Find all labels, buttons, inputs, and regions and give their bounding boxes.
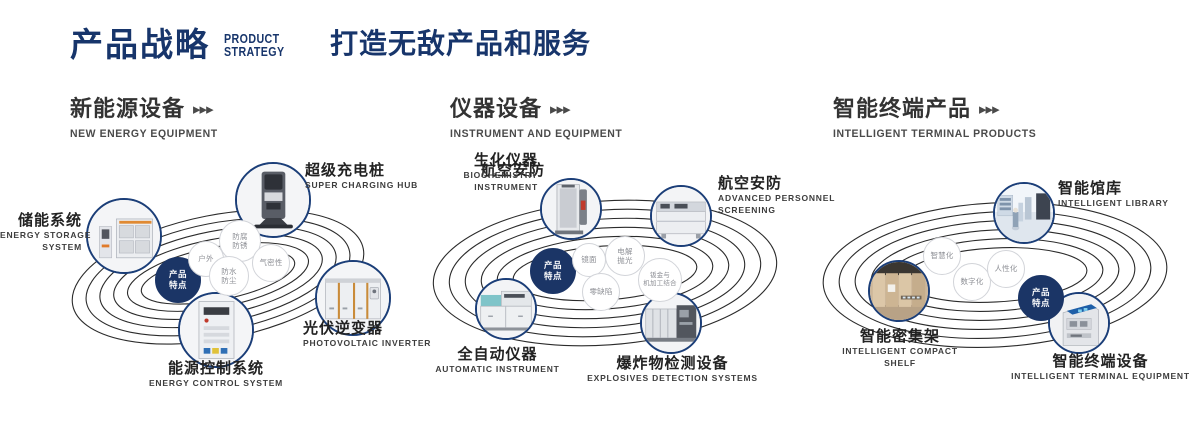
label-intelligent-library: 智能馆库 INTELLIGENT LIBRARY <box>1058 180 1169 209</box>
header-slogan: 打造无敌产品和服务 <box>330 30 591 58</box>
label-cn: 智能密集架 <box>810 328 990 345</box>
core-line-2: 特点 <box>544 271 562 282</box>
section-heading-instrument-en: INSTRUMENT AND EQUIPMENT <box>450 128 622 140</box>
label-cn: 储能系统 <box>0 212 82 229</box>
node-advanced-personnel-screening[interactable] <box>650 185 712 247</box>
label-en-1: ENERGY CONTROL SYSTEM <box>106 378 326 389</box>
energy-storage-cabinet-icon <box>88 200 160 272</box>
core-line-2: 特点 <box>1032 298 1050 309</box>
core-line-1: 产品 <box>544 260 562 271</box>
library-room-icon <box>995 184 1053 242</box>
core-line-1: 产品 <box>169 269 187 280</box>
section-heading-new-energy-cn-row: 新能源设备 ▸▸▸ <box>70 98 225 120</box>
label-cn: 能源控制系统 <box>106 360 326 377</box>
cluster-new-energy: 储能系统 ENERGY STORAGE SYSTEM 超级充电桩 SUPER C… <box>0 150 420 400</box>
feature-text: 气密性 <box>259 258 282 267</box>
node-biochemistry-instrument[interactable] <box>540 178 602 240</box>
cluster-intelligent-terminal: 智能馆库 INTELLIGENT LIBRARY 智能密集架 <box>790 150 1200 400</box>
feature-line-2: 机加工结合 <box>643 280 677 288</box>
node-explosives-detection-systems[interactable] <box>640 292 702 354</box>
label-cn: 生化仪器 <box>455 152 538 169</box>
chevron-right-icon: ▸▸▸ <box>979 102 999 117</box>
label-intelligent-compact-shelf: 智能密集架 INTELLIGENT COMPACT SHELF <box>810 328 990 369</box>
section-heading-intelligent-terminal: 智能终端产品 ▸▸▸ INTELLIGENT TERMINAL PRODUCTS <box>833 98 1047 140</box>
feature-text: 镜面 <box>581 255 596 264</box>
label-en-1: ENERGY STORAGE <box>0 230 82 241</box>
node-intelligent-library[interactable] <box>993 182 1055 244</box>
screening-machine-icon <box>652 187 710 245</box>
label-en-1: BIOCHEMISTRY <box>455 170 538 181</box>
label-energy-storage-system: 储能系统 ENERGY STORAGE SYSTEM <box>0 212 82 253</box>
feature-line-2: 防锈 <box>232 241 247 250</box>
control-cabinet-icon <box>180 294 252 366</box>
label-en-1: INTELLIGENT COMPACT <box>810 346 990 357</box>
page-title: 产品战略 <box>70 28 210 61</box>
label-en-1: INTELLIGENT TERMINAL EQUIPMENT <box>998 371 1200 382</box>
feature-text: 数字化 <box>960 277 983 286</box>
node-automatic-instrument[interactable] <box>475 278 537 340</box>
section-heading-new-energy: 新能源设备 ▸▸▸ NEW ENERGY EQUIPMENT <box>70 98 225 140</box>
feature-bubble-waterproof-dustproof: 防水 防尘 <box>209 256 249 296</box>
feature-line-1: 钣金与 <box>650 272 670 280</box>
feature-bubble-airtightness: 气密性 <box>252 244 290 282</box>
feature-bubble-zero-defect: 零缺陷 <box>582 273 620 311</box>
feature-bubble-mirror-finish: 镜面 <box>572 243 606 277</box>
section-heading-new-energy-en: NEW ENERGY EQUIPMENT <box>70 128 218 140</box>
label-cn: 智能馆库 <box>1058 180 1169 197</box>
core-line-1: 产品 <box>1032 287 1050 298</box>
automatic-instrument-icon <box>477 280 535 338</box>
feature-line-2: 防尘 <box>221 276 236 285</box>
cluster-instrument: 航空安防 生化仪器 BIOCHEMISTRY INSTRUMENT 航空安防 A… <box>400 150 820 400</box>
section-heading-intelligent-terminal-cn: 智能终端产品 <box>833 98 971 120</box>
poster-canvas: 产品战略 PRODUCT STRATEGY 打造无敌产品和服务 新能源设备 ▸▸… <box>0 0 1200 422</box>
section-heading-intelligent-terminal-cn-row: 智能终端产品 ▸▸▸ <box>833 98 1047 120</box>
explosive-detector-icon <box>642 294 700 352</box>
feature-text: 智慧化 <box>930 251 953 260</box>
feature-line-1: 防腐 <box>232 232 247 241</box>
label-automatic-instrument: 全自动仪器 AUTOMATIC INSTRUMENT <box>390 346 605 375</box>
node-intelligent-compact-shelf[interactable] <box>868 260 930 322</box>
feature-text: 人性化 <box>994 264 1017 273</box>
feature-line-2: 抛光 <box>617 256 632 265</box>
compact-shelf-icon <box>870 262 928 320</box>
feature-text: 户外 <box>198 254 213 263</box>
label-en-2: SHELF <box>810 358 990 369</box>
chevron-right-icon: ▸▸▸ <box>550 102 570 117</box>
feature-line-1: 防水 <box>221 267 236 276</box>
chevron-right-icon: ▸▸▸ <box>193 102 213 117</box>
feature-core-product-traits: 产品 特点 <box>1018 275 1064 321</box>
section-heading-new-energy-cn: 新能源设备 <box>70 98 185 120</box>
feature-bubble-smart: 智慧化 <box>923 237 961 275</box>
section-heading-instrument-cn: 仪器设备 <box>450 98 542 120</box>
core-line-2: 特点 <box>169 280 187 291</box>
feature-core-product-traits: 产品 特点 <box>530 248 576 294</box>
node-energy-storage-system[interactable] <box>86 198 162 274</box>
feature-line-1: 电解 <box>617 247 632 256</box>
label-cn: 全自动仪器 <box>390 346 605 363</box>
label-en-2: INSTRUMENT <box>455 182 538 193</box>
feature-bubble-human-centric: 人性化 <box>987 250 1025 288</box>
section-heading-instrument-cn-row: 仪器设备 ▸▸▸ <box>450 98 631 120</box>
label-cn: 智能终端设备 <box>998 353 1200 370</box>
label-energy-control-system: 能源控制系统 ENERGY CONTROL SYSTEM <box>106 360 326 389</box>
label-en-2: SYSTEM <box>0 242 82 253</box>
label-biochemistry-instrument: 生化仪器 BIOCHEMISTRY INSTRUMENT <box>455 152 538 193</box>
section-heading-intelligent-terminal-en: INTELLIGENT TERMINAL PRODUCTS <box>833 128 1036 140</box>
feature-bubble-sheetmetal-machining: 钣金与 机加工结合 <box>638 258 682 302</box>
feature-bubble-digital: 数字化 <box>953 263 991 301</box>
label-en-1: INTELLIGENT LIBRARY <box>1058 198 1169 209</box>
section-heading-instrument: 仪器设备 ▸▸▸ INSTRUMENT AND EQUIPMENT <box>450 98 631 140</box>
poster-header: 产品战略 PRODUCT STRATEGY <box>70 28 298 61</box>
page-title-english: PRODUCT STRATEGY <box>224 32 285 61</box>
page-title-english-line2: STRATEGY <box>224 45 285 58</box>
label-intelligent-terminal-equipment: 智能终端设备 INTELLIGENT TERMINAL EQUIPMENT <box>998 353 1200 382</box>
biochem-scanner-icon <box>542 180 600 238</box>
feature-text: 零缺陷 <box>589 287 612 296</box>
label-en-1: AUTOMATIC INSTRUMENT <box>390 364 605 375</box>
node-energy-control-system[interactable] <box>178 292 254 368</box>
